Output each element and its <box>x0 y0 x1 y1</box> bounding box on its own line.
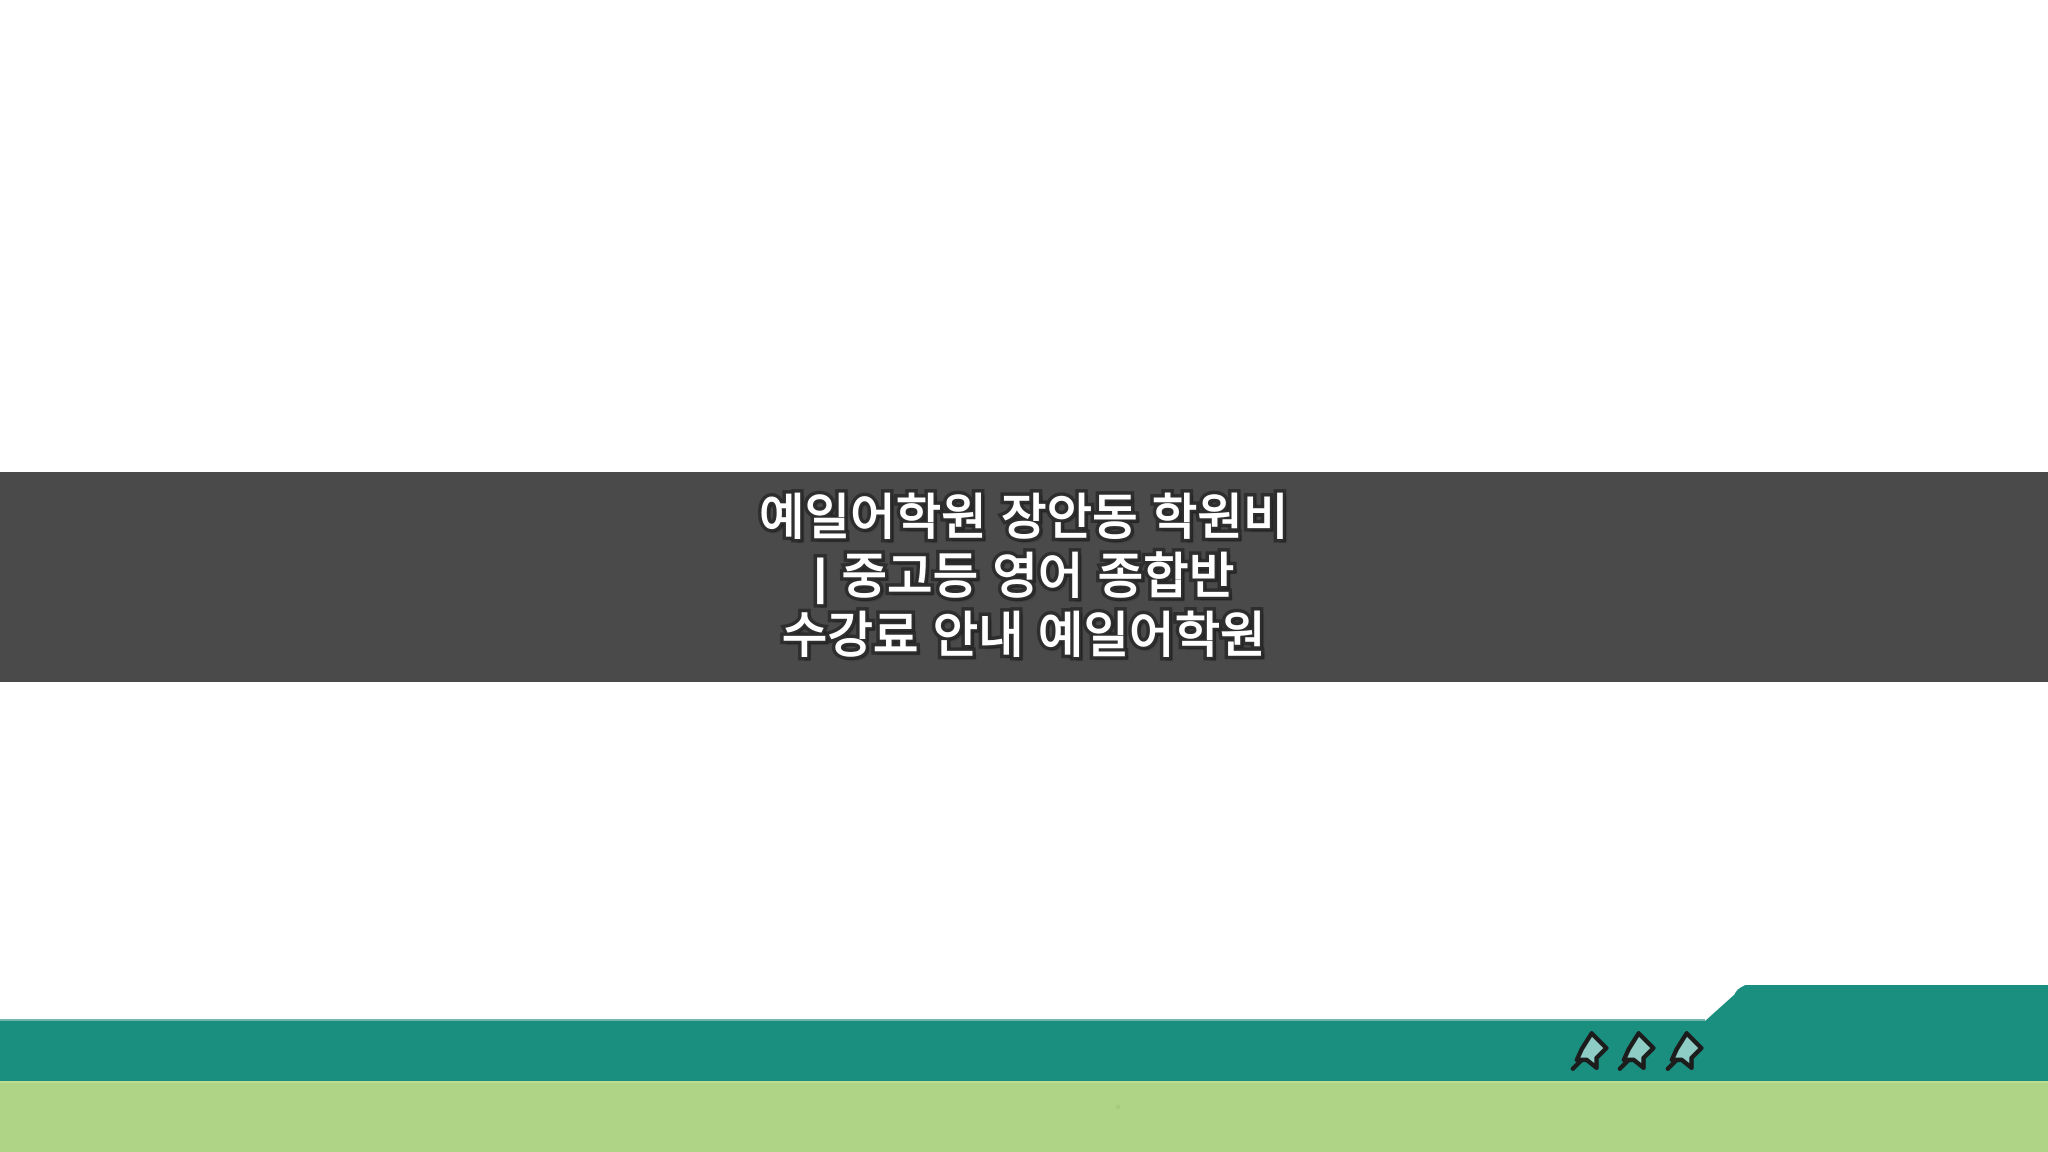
footer-decoration <box>0 960 2048 1152</box>
teal-band-step-corner <box>1733 985 1759 1011</box>
green-band <box>0 1083 2048 1152</box>
teal-band-top-hairline <box>0 1019 1705 1021</box>
title-line-1: 예일어학원 장안동 학원비 <box>759 489 1289 548</box>
pushpin-icon <box>1661 1026 1706 1076</box>
pushpin-icon <box>1613 1026 1658 1076</box>
thumbnail-canvas: 예일어학원 장안동 학원비 | 중고등 영어 종합반 수강료 안내 예일어학원 <box>0 0 2048 1152</box>
upper-blank-area <box>0 0 2048 472</box>
title-line-3: 수강료 안내 예일어학원 <box>782 607 1266 666</box>
green-band-speck <box>1116 1105 1120 1109</box>
pushpin-icon-row <box>1566 1026 1706 1076</box>
teal-band <box>0 960 2048 1083</box>
title-line-2: | 중고등 영어 종합반 <box>813 548 1234 607</box>
pushpin-icon <box>1566 1026 1611 1076</box>
title-banner: 예일어학원 장안동 학원비 | 중고등 영어 종합반 수강료 안내 예일어학원 <box>0 472 2048 682</box>
